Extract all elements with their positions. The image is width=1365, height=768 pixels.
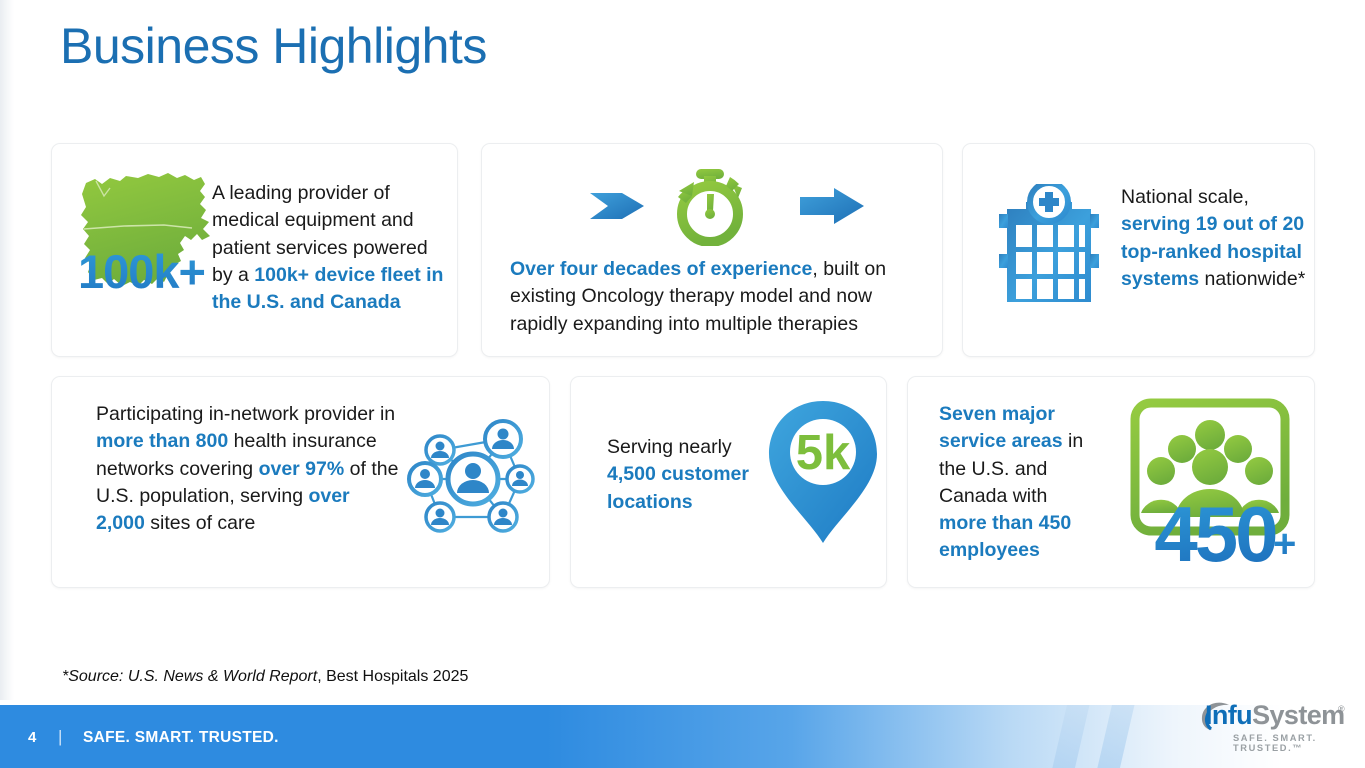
highlight-card-national-scale: National scale, serving 19 out of 20 top…: [962, 143, 1315, 357]
card-text-highlight-1: 4,500 customer locations: [607, 463, 749, 512]
card-text-highlight-2: over 97%: [259, 458, 345, 480]
logo-wordmark: InfuSystem: [1205, 702, 1345, 729]
big-number-450: 450: [1154, 490, 1276, 575]
card-text-device-fleet: A leading provider of medical equipment …: [212, 180, 447, 316]
source-note-italic: *Source: U.S. News & World Report: [62, 668, 317, 685]
people-network-icon: [407, 417, 542, 542]
stopwatch-arrows-icon: [482, 166, 942, 242]
highlight-card-networks: Participating in-network provider in mor…: [51, 376, 550, 588]
slide-canvas: Business Highlights 100k+: [0, 0, 1365, 768]
source-note-rest: , Best Hospitals 2025: [317, 668, 468, 685]
card-text-plain-1: Serving nearly: [607, 436, 732, 458]
pin-label-5k: 5k: [796, 426, 851, 480]
card-text-plain-4: sites of care: [145, 512, 256, 534]
slide-footer: 4 | SAFE. SMART. TRUSTED.: [0, 705, 1365, 768]
card-text-plain-2: nationwide*: [1199, 268, 1305, 290]
footer-separator: |: [58, 727, 62, 747]
big-number-100k: 100k+: [78, 244, 205, 299]
card-text-plain-1: Participating in-network provider in: [96, 403, 395, 425]
card-text-service-areas: Seven major service areas in the U.S. an…: [939, 401, 1099, 565]
left-edge-gradient: [0, 0, 14, 700]
highlight-card-customer-locations: Serving nearly 4,500 customer locations …: [570, 376, 887, 588]
footer-tagline: SAFE. SMART. TRUSTED.: [83, 729, 279, 747]
logo-tagline: SAFE. SMART. TRUSTED.™: [1233, 733, 1350, 753]
card-text-plain-1: National scale,: [1121, 186, 1249, 208]
page-title: Business Highlights: [60, 18, 487, 76]
logo-word-system: System: [1252, 700, 1344, 730]
highlight-card-service-areas: Seven major service areas in the U.S. an…: [907, 376, 1315, 588]
big-number-450-suffix: +: [1273, 522, 1296, 566]
highlight-card-experience: Over four decades of experience, built o…: [481, 143, 943, 357]
footer-page-number: 4: [28, 729, 36, 746]
card-text-highlight-1: Seven major service areas: [939, 403, 1063, 452]
logo-word-infu: Infu: [1205, 700, 1252, 730]
card-text-national-scale: National scale, serving 19 out of 20 top…: [1121, 184, 1311, 293]
card-text-highlight-2: more than 450 employees: [939, 512, 1071, 561]
highlight-card-device-fleet: 100k+ A leading provider of medical equi…: [51, 143, 458, 357]
map-pin-5k-icon: 5k: [761, 395, 886, 550]
hospital-building-icon: [993, 184, 1105, 309]
decorative-stripe-2: [1078, 705, 1171, 768]
infusystem-logo: InfuSystem ® SAFE. SMART. TRUSTED.™: [1175, 700, 1350, 756]
card-text-customer-locations: Serving nearly 4,500 customer locations: [607, 434, 772, 516]
source-note: *Source: U.S. News & World Report, Best …: [62, 668, 468, 686]
card-text-highlight-1: Over four decades of experience: [510, 258, 812, 280]
card-text-experience: Over four decades of experience, built o…: [510, 256, 920, 338]
logo-registered-mark: ®: [1338, 704, 1345, 714]
people-group-frame-icon: 450 +: [1123, 395, 1298, 575]
card-text-networks: Participating in-network provider in mor…: [96, 401, 401, 537]
card-text-highlight-1: more than 800: [96, 430, 228, 452]
